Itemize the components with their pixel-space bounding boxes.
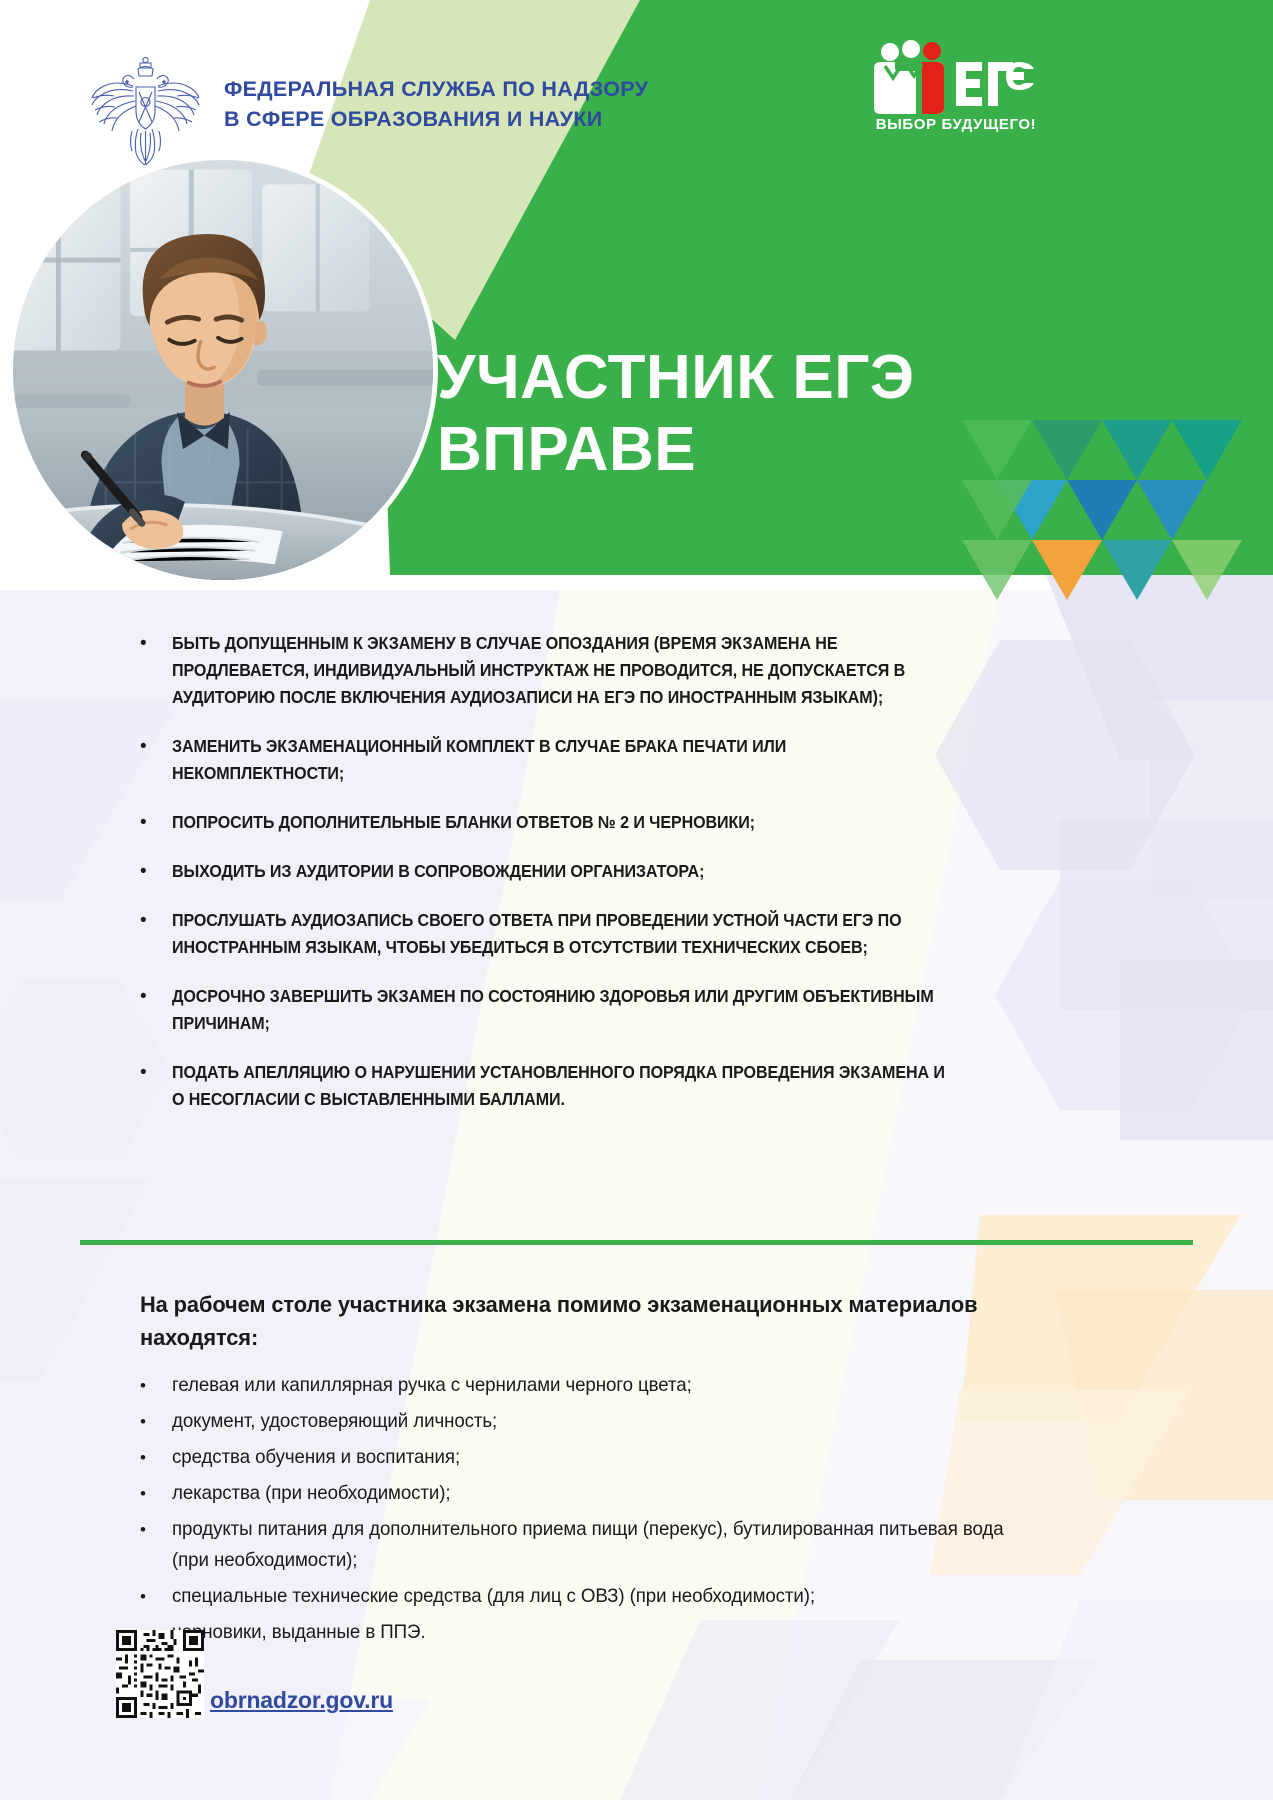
desk-item-text: документ, удостоверяющий личность; — [172, 1406, 1005, 1437]
desk-item-text: продукты питания для дополнительного при… — [172, 1514, 1005, 1576]
organization-title: ФЕДЕРАЛЬНАЯ СЛУЖБА ПО НАДЗОРУ В СФЕРЕ ОБ… — [224, 74, 648, 134]
bullet-icon: • — [140, 1406, 172, 1437]
desk-item-text: гелевая или капиллярная ручка с чернилам… — [172, 1370, 1005, 1401]
page-title: УЧАСТНИК ЕГЭ ВПРАВЕ — [437, 342, 1057, 486]
list-item: • специальные технические средства (для … — [140, 1581, 1040, 1612]
list-item: • ВЫХОДИТЬ ИЗ АУДИТОРИИ В СОПРОВОЖДЕНИИ … — [140, 858, 1020, 885]
rosobrnadzor-emblem-icon — [88, 55, 203, 165]
right-text: ЗАМЕНИТЬ ЭКЗАМЕНАЦИОННЫЙ КОМПЛЕКТ В СЛУЧ… — [172, 733, 961, 787]
desk-section-heading: На рабочем столе участника экзамена поми… — [140, 1288, 1013, 1354]
website-link[interactable]: obrnadzor.gov.ru — [210, 1687, 393, 1714]
list-item: • БЫТЬ ДОПУЩЕННЫМ К ЭКЗАМЕНУ В СЛУЧАЕ ОП… — [140, 630, 1020, 711]
ege-tagline: ВЫБОР БУДУЩЕГО! — [872, 116, 1040, 133]
rights-list: • БЫТЬ ДОПУЩЕННЫМ К ЭКЗАМЕНУ В СЛУЧАЕ ОП… — [140, 630, 1020, 1135]
right-text: ДОСРОЧНО ЗАВЕРШИТЬ ЭКЗАМЕН ПО СОСТОЯНИЮ … — [172, 983, 961, 1037]
bullet-icon: • — [140, 1478, 172, 1509]
bullet-icon: • — [140, 1514, 172, 1576]
student-photo — [8, 155, 438, 585]
section-divider — [80, 1240, 1193, 1245]
bullet-icon: • — [140, 809, 172, 836]
list-item: • ПОДАТЬ АПЕЛЛЯЦИЮ О НАРУШЕНИИ УСТАНОВЛЕ… — [140, 1059, 1020, 1113]
list-item: • лекарства (при необходимости); — [140, 1478, 1040, 1509]
qr-code-icon[interactable] — [116, 1630, 204, 1718]
poster-header: ФЕДЕРАЛЬНАЯ СЛУЖБА ПО НАДЗОРУ В СФЕРЕ ОБ… — [0, 0, 1273, 175]
bullet-icon: • — [140, 1442, 172, 1473]
right-text: ПОДАТЬ АПЕЛЛЯЦИЮ О НАРУШЕНИИ УСТАНОВЛЕНН… — [172, 1059, 961, 1113]
desk-item-text: средства обучения и воспитания; — [172, 1442, 1005, 1473]
desk-item-text: лекарства (при необходимости); — [172, 1478, 1005, 1509]
bullet-icon: • — [140, 1370, 172, 1401]
bullet-icon: • — [140, 907, 172, 961]
desk-item-text: специальные технические средства (для ли… — [172, 1581, 1005, 1612]
list-item: • ДОСРОЧНО ЗАВЕРШИТЬ ЭКЗАМЕН ПО СОСТОЯНИ… — [140, 983, 1020, 1037]
list-item: • ПОПРОСИТЬ ДОПОЛНИТЕЛЬНЫЕ БЛАНКИ ОТВЕТО… — [140, 809, 1020, 836]
list-item: • черновики, выданные в ППЭ. — [140, 1617, 1040, 1648]
right-text: ПРОСЛУШАТЬ АУДИОЗАПИСЬ СВОЕГО ОТВЕТА ПРИ… — [172, 907, 961, 961]
bullet-icon: • — [140, 1581, 172, 1612]
desk-item-text: черновики, выданные в ППЭ. — [172, 1617, 1005, 1648]
list-item: • документ, удостоверяющий личность; — [140, 1406, 1040, 1437]
bullet-icon: • — [140, 630, 172, 711]
list-item: • средства обучения и воспитания; — [140, 1442, 1040, 1473]
bullet-icon: • — [140, 733, 172, 787]
right-text: БЫТЬ ДОПУЩЕННЫМ К ЭКЗАМЕНУ В СЛУЧАЕ ОПОЗ… — [172, 630, 961, 711]
poster-root: ФЕДЕРАЛЬНАЯ СЛУЖБА ПО НАДЗОРУ В СФЕРЕ ОБ… — [0, 0, 1273, 1800]
right-text: ВЫХОДИТЬ ИЗ АУДИТОРИИ В СОПРОВОЖДЕНИИ ОР… — [172, 858, 961, 885]
desk-items-section: На рабочем столе участника экзамена поми… — [140, 1288, 1040, 1653]
list-item: • ЗАМЕНИТЬ ЭКЗАМЕНАЦИОННЫЙ КОМПЛЕКТ В СЛ… — [140, 733, 1020, 787]
bullet-icon: • — [140, 1059, 172, 1113]
right-text: ПОПРОСИТЬ ДОПОЛНИТЕЛЬНЫЕ БЛАНКИ ОТВЕТОВ … — [172, 809, 961, 836]
bullet-icon: • — [140, 858, 172, 885]
bullet-icon: • — [140, 983, 172, 1037]
list-item: • продукты питания для дополнительного п… — [140, 1514, 1040, 1576]
list-item: • гелевая или капиллярная ручка с чернил… — [140, 1370, 1040, 1401]
list-item: • ПРОСЛУШАТЬ АУДИОЗАПИСЬ СВОЕГО ОТВЕТА П… — [140, 907, 1020, 961]
